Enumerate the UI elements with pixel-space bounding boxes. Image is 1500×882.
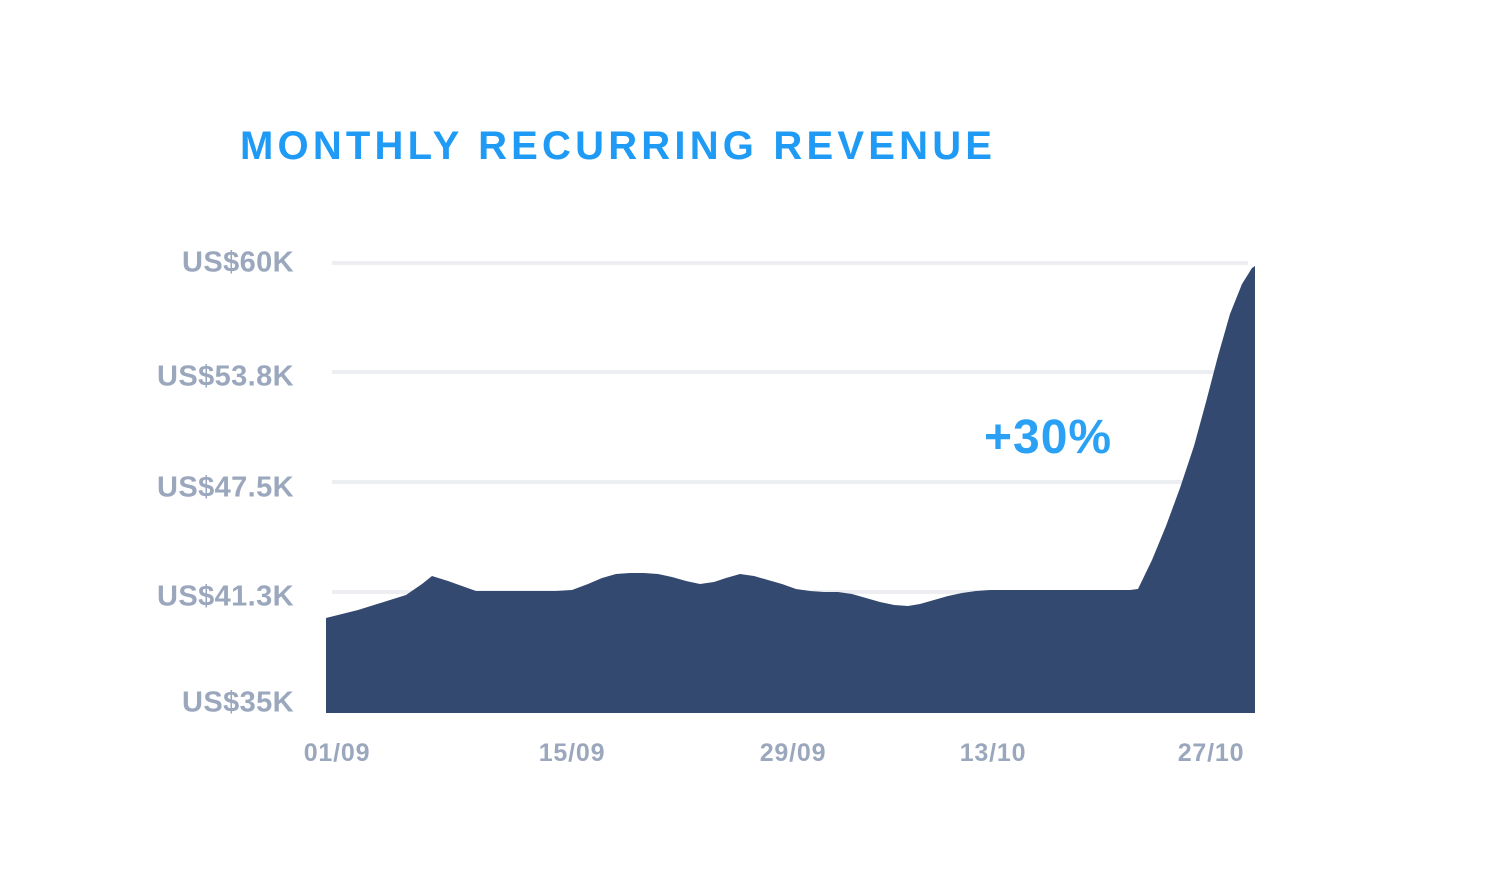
- x-tick-label-0: 01/09: [304, 741, 371, 766]
- area-series: [0, 0, 1500, 882]
- y-tick-label-3: US$41.3K: [157, 583, 294, 612]
- y-tick-label-0: US$60K: [182, 249, 294, 278]
- x-tick-label-3: 13/10: [960, 741, 1027, 766]
- growth-annotation: +30%: [984, 414, 1112, 462]
- plot-area: US$60K US$53.8K US$47.5K US$41.3K US$35K…: [0, 0, 1500, 882]
- x-tick-label-2: 29/09: [760, 741, 827, 766]
- x-tick-label-1: 15/09: [539, 741, 606, 766]
- area-series-shape: [326, 266, 1255, 713]
- chart-card: MONTHLY RECURRING REVENUE US$60K US$53.8…: [0, 0, 1500, 882]
- y-tick-label-1: US$53.8K: [157, 363, 294, 392]
- y-tick-label-2: US$47.5K: [157, 474, 294, 503]
- y-tick-label-4: US$35K: [182, 689, 294, 718]
- x-tick-label-4: 27/10: [1178, 741, 1245, 766]
